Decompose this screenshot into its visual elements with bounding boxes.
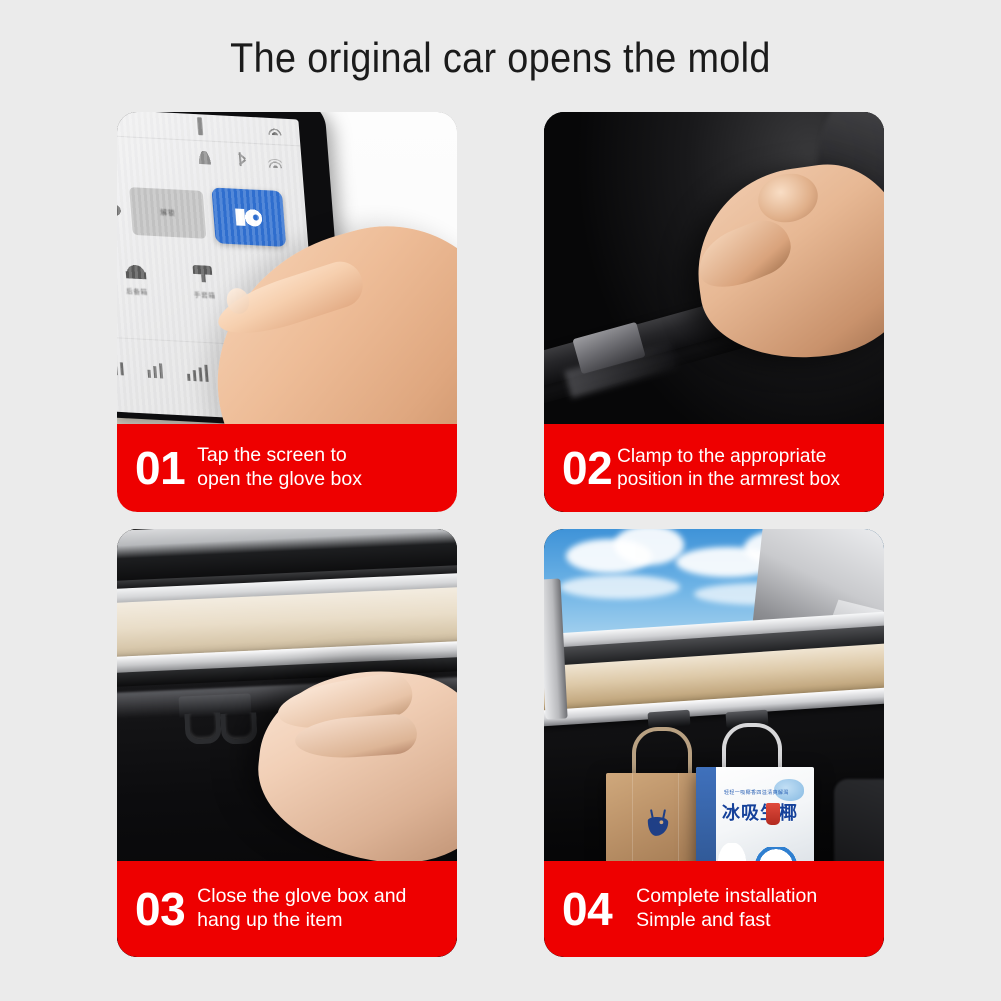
step-banner-04: 04 Complete installation Simple and fast (544, 861, 884, 957)
step-caption-line1: Complete installation (636, 885, 817, 909)
step-number-04: 04 (562, 886, 612, 932)
step-caption-02: Clamp to the appropriate position in the… (617, 445, 840, 491)
wifi-icon (268, 126, 282, 136)
step-number-01: 01 (135, 445, 185, 491)
step-card-02[interactable]: 02 Clamp to the appropriate position in … (544, 112, 884, 512)
step-number-02: 02 (562, 445, 612, 491)
luckin-deer-logo-icon (641, 807, 675, 841)
screen-icon-row (117, 138, 303, 175)
step-banner-03: 03 Close the glove box and hang up the i… (117, 861, 457, 957)
screen-statusbar (117, 112, 300, 146)
page-title: The original car opens the mold (50, 34, 951, 82)
step-number-03: 03 (135, 886, 185, 932)
step-banner-01: 01 Tap the screen to open the glove box (117, 424, 457, 512)
signal-bars-3-icon (186, 363, 208, 381)
step-caption-line2: open the glove box (197, 468, 362, 492)
installed-hook-left (648, 710, 691, 729)
drink-cup-graphic (766, 803, 780, 825)
hook-prong-right (220, 712, 257, 745)
bag-tagline: 轻轻一吸椰香四溢清爽解渴 (724, 789, 789, 796)
unlock-tile[interactable]: 解锁 (129, 187, 206, 239)
cloud (614, 529, 684, 565)
frunk-icon (125, 261, 146, 279)
glovebox-open-button[interactable] (211, 187, 286, 247)
wifi-icon[interactable] (268, 154, 282, 169)
step-card-03[interactable]: 03 Close the glove box and hang up the i… (117, 529, 457, 957)
frunk-button[interactable]: 后备箱 (124, 261, 150, 326)
step-caption-line2: Simple and fast (636, 909, 817, 933)
frunk-label: 后备箱 (126, 285, 148, 296)
screen-notch (197, 117, 203, 135)
step-card-04[interactable]: luckin coffee 瑞幸咖啡 轻轻一吸椰香四溢清爽解渴 冰吸生椰 04 (544, 529, 884, 957)
glovebox-label: 手套箱 (194, 289, 216, 300)
lock-icon[interactable] (117, 199, 123, 220)
cloud (560, 575, 680, 599)
poster-root: The original car opens the mold (0, 0, 1001, 1001)
bag-product-title: 冰吸生椰 (722, 799, 798, 825)
glovebox-button[interactable]: 手套箱 (192, 265, 218, 330)
step-caption-line1: Tap the screen to (197, 444, 362, 468)
screen-tile-row: 解锁 (117, 170, 309, 259)
signal-bars-1-icon (117, 361, 124, 374)
step-caption-line2: position in the armrest box (617, 468, 840, 491)
hook-prong-left (184, 712, 221, 745)
step-caption-line1: Close the glove box and (197, 885, 406, 909)
unlock-tile-label: 解锁 (160, 208, 176, 219)
signal-bars-2-icon (147, 362, 163, 378)
person-icon[interactable] (197, 150, 211, 165)
step-caption-line1: Clamp to the appropriate (617, 445, 840, 468)
step-caption-line2: hang up the item (197, 909, 406, 933)
steps-grid: 解锁 后备箱 (117, 112, 884, 957)
trunk-icon (235, 208, 263, 226)
step-caption-03: Close the glove box and hang up the item (197, 885, 406, 933)
step-caption-04: Complete installation Simple and fast (636, 885, 817, 933)
step-banner-02: 02 Clamp to the appropriate position in … (544, 424, 884, 512)
step-caption-01: Tap the screen to open the glove box (197, 444, 362, 492)
bluetooth-icon[interactable] (233, 152, 247, 167)
step-card-01[interactable]: 解锁 后备箱 (117, 112, 457, 512)
glovebox-icon (193, 265, 213, 283)
